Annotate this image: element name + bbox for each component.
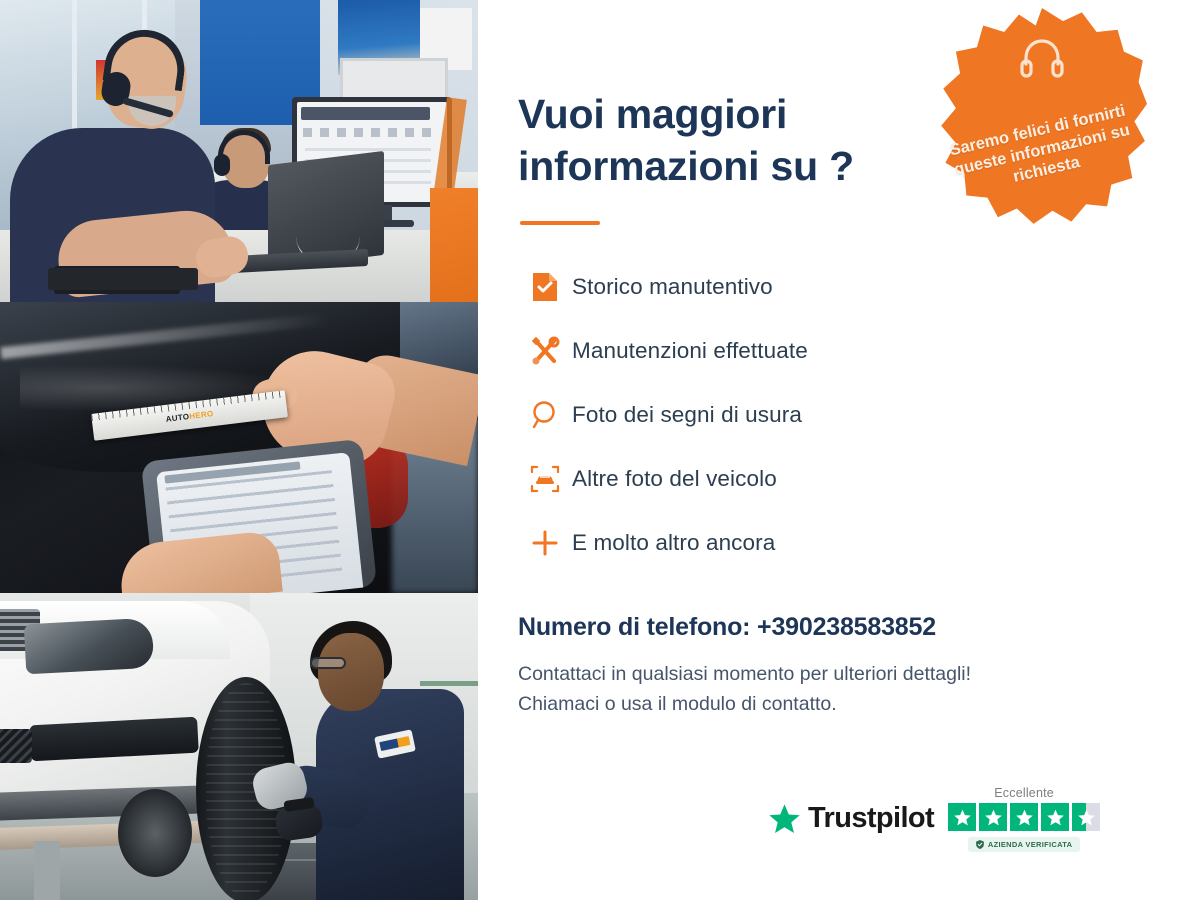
content-panel: Vuoi maggiori informazioni su ? Storico … bbox=[478, 0, 1200, 900]
callout-badge: Saremo felici di fornirti queste informa… bbox=[937, 8, 1147, 226]
document-check-icon bbox=[518, 272, 572, 302]
list-item-label: Altre foto del veicolo bbox=[572, 466, 777, 492]
contact-text: Contattaci in qualsiasi momento per ulte… bbox=[518, 659, 1200, 719]
trustpilot-wordmark: Trustpilot bbox=[808, 802, 934, 835]
title-underline-rule bbox=[520, 221, 600, 225]
phone-number-line: Numero di telefono: +390238583852 bbox=[518, 613, 1200, 642]
list-item: Altre foto del veicolo bbox=[518, 447, 1200, 511]
list-item: Foto dei segni di usura bbox=[518, 383, 1200, 447]
call-center-agents-photo bbox=[0, 0, 478, 302]
headset-icon bbox=[1019, 38, 1065, 87]
promo-page: AUTOHERO bbox=[0, 0, 1200, 900]
list-item-label: Foto dei segni di usura bbox=[572, 402, 802, 428]
list-item: Storico manutentivo bbox=[518, 255, 1200, 319]
plus-icon bbox=[518, 528, 572, 558]
tools-wrench-screwdriver-icon bbox=[518, 335, 572, 367]
star-filled-1 bbox=[948, 803, 976, 831]
page-title: Vuoi maggiori informazioni su ? bbox=[518, 88, 948, 193]
mechanic-wheel-photo bbox=[0, 593, 478, 900]
list-item-label: E molto altro ancora bbox=[572, 530, 775, 556]
feature-list: Storico manutentivo Manutenzioni effettu… bbox=[518, 255, 1200, 575]
photo-strip: AUTOHERO bbox=[0, 0, 478, 900]
trustpilot-rating-label: Eccellente bbox=[994, 786, 1054, 800]
list-item-label: Storico manutentivo bbox=[572, 274, 773, 300]
vehicle-inspection-ruler-photo: AUTOHERO bbox=[0, 302, 478, 593]
trustpilot-widget[interactable]: Trustpilot Eccellente bbox=[768, 786, 1100, 852]
trustpilot-logo: Trustpilot bbox=[768, 786, 934, 835]
star-filled-2 bbox=[979, 803, 1007, 831]
car-scan-frame-icon bbox=[518, 464, 572, 494]
trustpilot-stars bbox=[948, 803, 1100, 831]
star-filled-4 bbox=[1041, 803, 1069, 831]
contact-line-1: Contattaci in qualsiasi momento per ulte… bbox=[518, 659, 1200, 689]
verified-company-label: AZIENDA VERIFICATA bbox=[988, 840, 1072, 849]
shield-icon bbox=[976, 840, 984, 849]
contact-line-2: Chiamaci o usa il modulo di contatto. bbox=[518, 689, 1200, 719]
list-item: Manutenzioni effettuate bbox=[518, 319, 1200, 383]
trustpilot-star-icon bbox=[768, 803, 801, 835]
star-half-5 bbox=[1072, 803, 1100, 831]
list-item-label: Manutenzioni effettuate bbox=[572, 338, 808, 364]
list-item: E molto altro ancora bbox=[518, 511, 1200, 575]
magnifier-icon bbox=[518, 400, 572, 430]
verified-company-badge: AZIENDA VERIFICATA bbox=[968, 837, 1080, 852]
star-filled-3 bbox=[1010, 803, 1038, 831]
